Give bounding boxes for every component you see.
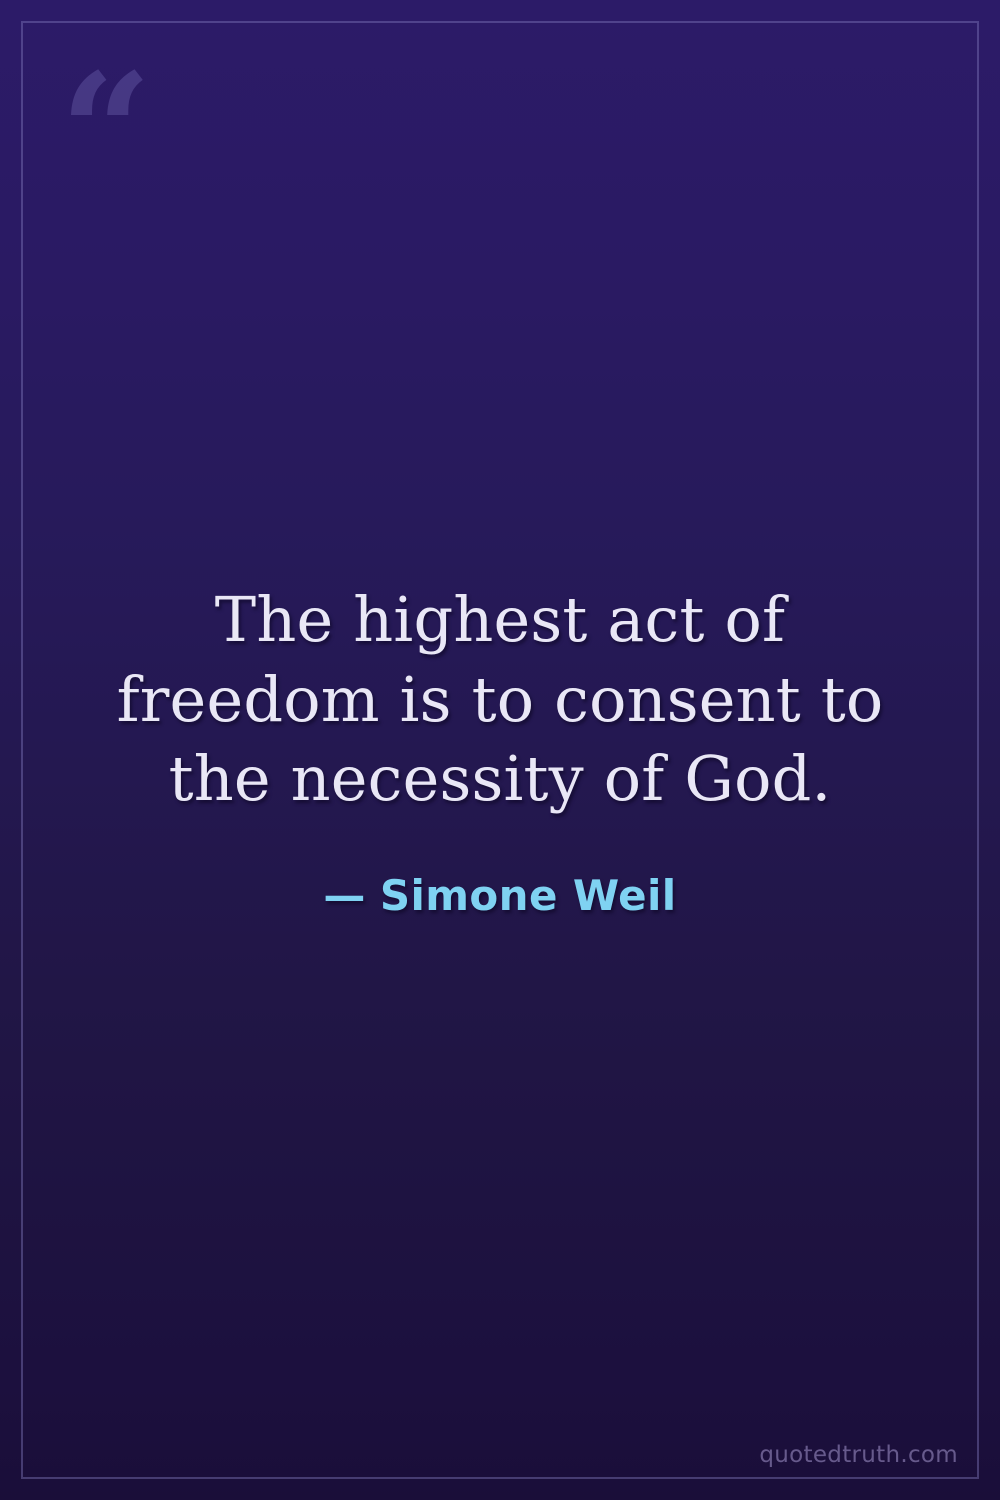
quote-block: The highest act of freedom is to consent…: [0, 0, 1000, 1500]
attribution-author: Simone Weil: [380, 871, 677, 920]
site-watermark: quotedtruth.com: [759, 1442, 958, 1468]
quote-attribution: —Simone Weil: [323, 871, 676, 920]
quote-text: The highest act of freedom is to consent…: [100, 580, 900, 820]
attribution-dash: —: [323, 871, 365, 920]
quote-card: “ The highest act of freedom is to conse…: [0, 0, 1000, 1500]
